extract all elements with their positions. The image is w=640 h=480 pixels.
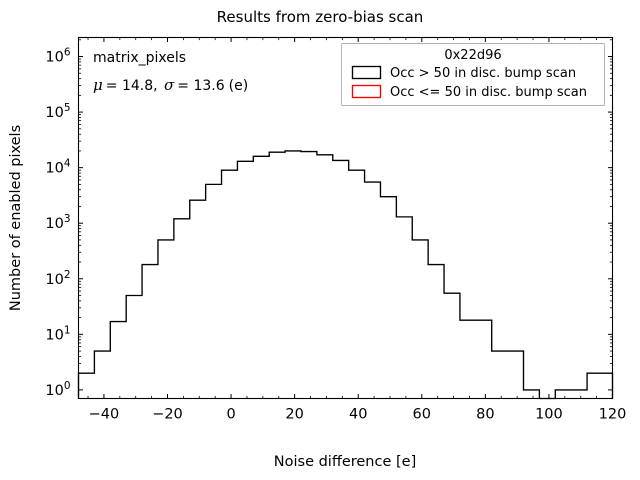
histogram-series-group xyxy=(79,151,613,399)
x-tick-label: −40 xyxy=(89,407,120,423)
figure-canvas: Results from zero-bias scan −40−20020406… xyxy=(0,0,640,480)
mu-symbol: μ xyxy=(93,76,103,94)
y-tick-label: 104 xyxy=(45,158,70,177)
legend: 0x22d96 Occ > 50 in disc. bump scan Occ … xyxy=(342,44,605,106)
x-tick-label: 120 xyxy=(599,407,627,423)
legend-label-occ-gt-50: Occ > 50 in disc. bump scan xyxy=(390,66,576,81)
mu-value: 14.8 xyxy=(122,78,153,94)
x-tick-label: 20 xyxy=(285,407,303,423)
legend-label-occ-le-50: Occ <= 50 in disc. bump scan xyxy=(390,85,587,100)
y-axis-tick-labels: 100101102103104105106 xyxy=(45,47,70,399)
y-tick-label: 106 xyxy=(45,47,70,66)
x-tick-label: 100 xyxy=(535,407,563,423)
page-title: Results from zero-bias scan xyxy=(217,8,424,26)
stats-annotation: μ= 14.8, σ= 13.6(e) xyxy=(93,76,248,94)
y-tick-label: 102 xyxy=(45,269,70,288)
x-tick-label: 40 xyxy=(349,407,367,423)
stats-units: (e) xyxy=(229,78,249,94)
x-tick-label: 80 xyxy=(476,407,494,423)
x-axis-label: Noise difference [e] xyxy=(274,454,416,470)
sigma-equals: = xyxy=(177,78,193,94)
matrix-name-annotation: matrix_pixels xyxy=(93,50,186,66)
x-tick-label: 60 xyxy=(413,407,431,423)
x-tick-label: 0 xyxy=(226,407,235,423)
stats-comma: , xyxy=(153,78,162,94)
y-tick-label: 105 xyxy=(45,102,70,121)
sigma-value: 13.6 xyxy=(193,78,224,94)
mu-equals-value: = xyxy=(106,78,122,94)
y-tick-label: 103 xyxy=(45,213,70,232)
y-axis-ticks xyxy=(79,57,613,390)
y-axis-label: Number of enabled pixels xyxy=(8,125,24,311)
x-axis-tick-labels: −40−20020406080100120 xyxy=(89,407,627,423)
sigma-symbol: σ xyxy=(164,76,175,94)
legend-title: 0x22d96 xyxy=(444,48,501,63)
x-tick-label: −20 xyxy=(152,407,183,423)
histogram-plot: Results from zero-bias scan −40−20020406… xyxy=(0,0,640,480)
histogram-step-occ-gt-50 xyxy=(79,151,613,399)
y-tick-label: 101 xyxy=(45,324,70,343)
y-tick-label: 100 xyxy=(45,380,70,399)
svg-text:μ= 14.8, σ= 13.6(e): μ= 14.8, σ= 13.6(e) xyxy=(93,76,248,94)
